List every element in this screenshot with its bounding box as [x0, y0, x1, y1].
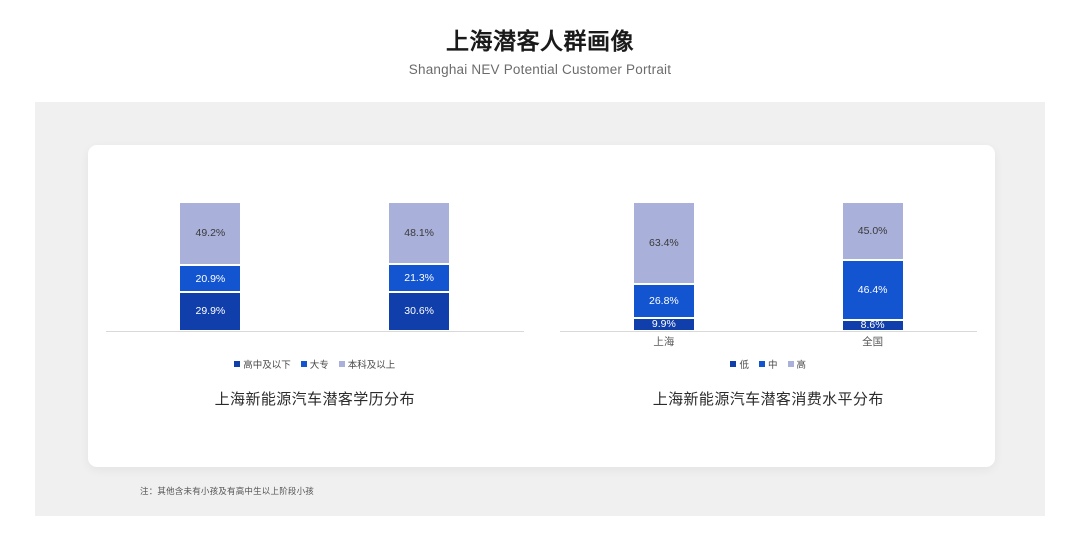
bar-segment-low[interactable]: 30.6%: [388, 292, 450, 331]
legend-label: 本科及以上: [348, 357, 396, 371]
x-axis-line: [106, 331, 524, 332]
content-panel: 49.2% 20.9% 29.9% 48.1% 21.3% 30.6%: [35, 102, 1045, 516]
bar-segment-mid[interactable]: 26.8%: [633, 284, 695, 319]
bar-slot: 48.1% 21.3% 30.6%: [315, 202, 524, 331]
bar-segment-high[interactable]: 48.1%: [388, 202, 450, 264]
stacked-bar[interactable]: 63.4% 26.8% 9.9%: [633, 202, 695, 331]
charts-card: 49.2% 20.9% 29.9% 48.1% 21.3% 30.6%: [88, 145, 995, 467]
stacked-bar[interactable]: 49.2% 20.9% 29.9%: [179, 202, 241, 331]
stacked-bar[interactable]: 48.1% 21.3% 30.6%: [388, 202, 450, 331]
charts-row: 49.2% 20.9% 29.9% 48.1% 21.3% 30.6%: [88, 145, 995, 467]
legend-swatch-icon: [788, 361, 794, 367]
bars-education: 49.2% 20.9% 29.9% 48.1% 21.3% 30.6%: [106, 202, 524, 331]
page-title: 上海潜客人群画像: [0, 26, 1080, 56]
page-subtitle: Shanghai NEV Potential Customer Portrait: [0, 60, 1080, 80]
legend-item-mid[interactable]: 大专: [301, 357, 329, 371]
footnote: 注：其他含未有小孩及有高中生以上阶段小孩: [140, 485, 314, 497]
legend-swatch-icon: [759, 361, 765, 367]
chart-education-distribution: 49.2% 20.9% 29.9% 48.1% 21.3% 30.6%: [88, 145, 542, 467]
legend-label: 中: [768, 357, 778, 371]
chart-title-education: 上海新能源汽车潜客学历分布: [88, 388, 542, 409]
bar-segment-low[interactable]: 29.9%: [179, 292, 241, 331]
x-axis-labels-consumption: 上海 全国: [560, 334, 978, 350]
x-axis-tick-label: [315, 334, 524, 350]
bar-slot: 63.4% 26.8% 9.9%: [560, 202, 769, 331]
bar-slot: 45.0% 46.4% 8.6%: [768, 202, 977, 331]
bar-segment-high[interactable]: 49.2%: [179, 202, 241, 265]
legend-item-high[interactable]: 高: [788, 357, 807, 371]
legend-item-low[interactable]: 高中及以下: [234, 357, 291, 371]
legend-label: 高: [797, 357, 807, 371]
page-header: 上海潜客人群画像 Shanghai NEV Potential Customer…: [0, 26, 1080, 80]
legend-swatch-icon: [730, 361, 736, 367]
plot-area-education: 49.2% 20.9% 29.9% 48.1% 21.3% 30.6%: [88, 187, 542, 332]
bar-segment-low[interactable]: 8.6%: [842, 320, 904, 331]
legend-item-high[interactable]: 本科及以上: [339, 357, 396, 371]
legend-swatch-icon: [234, 361, 240, 367]
bar-segment-high[interactable]: 63.4%: [633, 202, 695, 284]
bar-segment-high[interactable]: 45.0%: [842, 202, 904, 260]
bars-consumption: 63.4% 26.8% 9.9% 45.0% 46.4% 8.6%: [560, 202, 978, 331]
x-axis-tick-label-national: 全国: [768, 334, 977, 350]
legend-item-mid[interactable]: 中: [759, 357, 778, 371]
bar-segment-mid[interactable]: 46.4%: [842, 260, 904, 320]
x-axis-tick-label-shanghai: 上海: [560, 334, 769, 350]
stacked-bar[interactable]: 45.0% 46.4% 8.6%: [842, 202, 904, 331]
bar-segment-mid[interactable]: 21.3%: [388, 264, 450, 291]
chart-title-consumption: 上海新能源汽车潜客消费水平分布: [542, 388, 996, 409]
legend-swatch-icon: [301, 361, 307, 367]
chart-consumption-level-distribution: 63.4% 26.8% 9.9% 45.0% 46.4% 8.6%: [542, 145, 996, 467]
legend-item-low[interactable]: 低: [730, 357, 749, 371]
bar-segment-mid[interactable]: 20.9%: [179, 265, 241, 292]
legend-label: 大专: [310, 357, 329, 371]
bar-slot: 49.2% 20.9% 29.9%: [106, 202, 315, 331]
plot-area-consumption: 63.4% 26.8% 9.9% 45.0% 46.4% 8.6%: [542, 187, 996, 332]
x-axis-line: [560, 331, 978, 332]
x-axis-tick-label: [106, 334, 315, 350]
legend-education: 高中及以下 大专 本科及以上: [88, 357, 542, 371]
legend-swatch-icon: [339, 361, 345, 367]
x-axis-labels-education: [106, 334, 524, 350]
legend-label: 高中及以下: [243, 357, 291, 371]
legend-label: 低: [739, 357, 749, 371]
legend-consumption: 低 中 高: [542, 357, 996, 371]
bar-segment-low[interactable]: 9.9%: [633, 318, 695, 331]
